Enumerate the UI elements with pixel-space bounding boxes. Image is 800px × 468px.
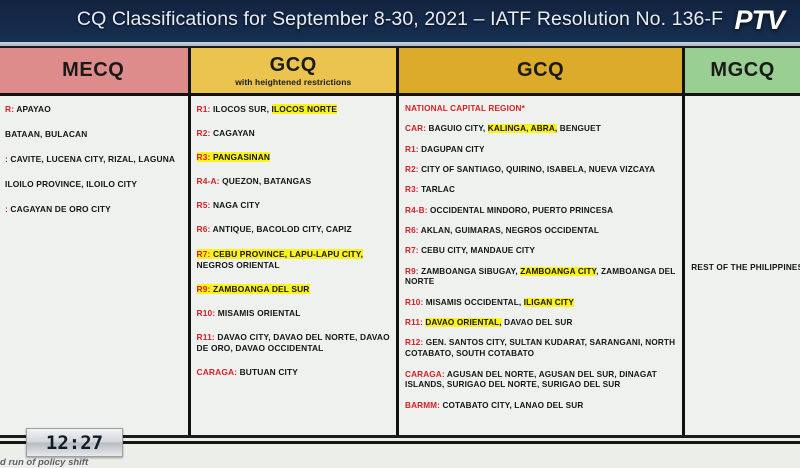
table-row: R10: MISAMIS OCCIDENTAL, ILIGAN CITY xyxy=(405,298,676,309)
table-row: : CAVITE, LUCENA CITY, RIZAL, LAGUNA xyxy=(5,154,182,165)
column-title-gcq: GCQ xyxy=(517,60,564,81)
table-row: R10: MISAMIS ORIENTAL xyxy=(197,308,390,319)
table-row: R4-A: QUEZON, BATANGAS xyxy=(197,176,390,187)
row-text-highlighted: DAVAO ORIENTAL, xyxy=(425,318,501,327)
row-region-label: CARAGA: xyxy=(405,370,447,379)
row-region-label: R1: xyxy=(405,145,421,154)
column-gcq-heightened: GCQ with heightened restrictions R1: ILO… xyxy=(191,48,399,435)
column-mecq: MECQ R: APAYAOBATAAN, BULACAN: CAVITE, L… xyxy=(0,48,191,435)
table-row: R11: DAVAO ORIENTAL, DAVAO DEL SUR xyxy=(405,318,676,329)
row-region-label: R2: xyxy=(405,165,421,174)
row-text: CAVITE, LUCENA CITY, RIZAL, LAGUNA xyxy=(10,154,175,164)
table-row: CARAGA: BUTUAN CITY xyxy=(197,367,390,378)
row-region-label: R10: xyxy=(405,298,426,307)
row-text: MISAMIS OCCIDENTAL, xyxy=(426,298,524,307)
row-region-label: R1: xyxy=(197,104,213,114)
row-region-label: R9: xyxy=(197,284,213,294)
table-row: R6: AKLAN, GUIMARAS, NEGROS OCCIDENTAL xyxy=(405,226,676,237)
row-text: DAVAO DEL SUR xyxy=(502,318,573,327)
table-row: R2: CITY OF SANTIAGO, QUIRINO, ISABELA, … xyxy=(405,165,676,176)
clock-time: 12:27 xyxy=(46,432,103,454)
row-text: COTABATO CITY, LANAO DEL SUR xyxy=(442,401,583,410)
table-row: R11: DAVAO CITY, DAVAO DEL NORTE, DAVAO … xyxy=(197,332,390,354)
row-region-label: BARMM: xyxy=(405,401,442,410)
row-text: BENGUET xyxy=(557,124,601,133)
column-body-gcq: NATIONAL CAPITAL REGION*CAR: BAGUIO CITY… xyxy=(399,96,682,435)
row-text-highlighted: PANGASINAN xyxy=(213,152,270,162)
table-row: R: APAYAO xyxy=(5,104,182,115)
row-text: ZAMBOANGA SIBUGAY, xyxy=(421,267,520,276)
row-text: DAGUPAN CITY xyxy=(421,145,485,154)
row-text: BATAAN, BULACAN xyxy=(5,129,87,139)
column-header-gcq-heightened: GCQ with heightened restrictions xyxy=(191,48,396,96)
column-gcq: GCQ NATIONAL CAPITAL REGION*CAR: BAGUIO … xyxy=(399,48,685,435)
table-row: R12: GEN. SANTOS CITY, SULTAN KUDARAT, S… xyxy=(405,338,676,360)
row-text: QUEZON, BATANGAS xyxy=(222,176,311,186)
column-body-mgcq: REST OF THE PHILIPPINES xyxy=(685,96,800,435)
row-region-label: R3: xyxy=(405,185,421,194)
table-row: CARAGA: AGUSAN DEL NORTE, AGUSAN DEL SUR… xyxy=(405,370,676,392)
row-text: MISAMIS ORIENTAL xyxy=(218,308,301,318)
row-text-highlighted: CEBU PROVINCE, LAPU-LAPU CITY, xyxy=(213,249,363,259)
table-row: R7: CEBU CITY, MANDAUE CITY xyxy=(405,246,676,257)
row-region-label: R10: xyxy=(197,308,218,318)
column-header-mecq: MECQ xyxy=(0,48,188,96)
row-text-highlighted: ZAMBOANGA DEL SUR xyxy=(213,284,310,294)
row-region-label: R11: xyxy=(197,332,218,342)
row-text: GEN. SANTOS CITY, SULTAN KUDARAT, SARANG… xyxy=(405,338,675,358)
row-region-label: R3: xyxy=(197,152,213,162)
table-row: R1: DAGUPAN CITY xyxy=(405,145,676,156)
table-row: NATIONAL CAPITAL REGION* xyxy=(405,104,676,115)
rest-of-philippines-label: REST OF THE PHILIPPINES xyxy=(691,263,800,272)
table-row: R7: CEBU PROVINCE, LAPU-LAPU CITY, NEGRO… xyxy=(197,249,390,271)
table-row: R1: ILOCOS SUR, ILOCOS NORTE xyxy=(197,104,390,115)
row-region-label: CAR: xyxy=(405,124,429,133)
table-row: R9: ZAMBOANGA DEL SUR xyxy=(197,284,390,295)
row-region-label: R: xyxy=(5,104,16,114)
column-title-gcq-heightened: GCQ xyxy=(270,55,317,76)
row-text: ILOILO PROVINCE, ILOILO CITY xyxy=(5,179,137,189)
column-header-gcq: GCQ xyxy=(399,48,682,96)
row-text: DAVAO CITY, DAVAO DEL NORTE, DAVAO DE OR… xyxy=(197,332,390,353)
row-text: CEBU CITY, MANDAUE CITY xyxy=(421,246,535,255)
column-body-mecq: R: APAYAOBATAAN, BULACAN: CAVITE, LUCENA… xyxy=(0,96,188,435)
row-text-highlighted: ILOCOS NORTE xyxy=(272,104,338,114)
row-text: ANTIQUE, BACOLOD CITY, CAPIZ xyxy=(213,224,352,234)
row-text: NAGA CITY xyxy=(213,200,260,210)
classification-table: MECQ R: APAYAOBATAAN, BULACAN: CAVITE, L… xyxy=(0,46,800,438)
column-body-gcq-heightened: R1: ILOCOS SUR, ILOCOS NORTER2: CAGAYANR… xyxy=(191,96,396,435)
ptv-network-logo: PTV xyxy=(734,5,784,36)
lower-ticker-band: 12:27 d run of policy shift xyxy=(0,441,800,467)
row-region-label: R5: xyxy=(197,200,213,210)
table-row: BATAAN, BULACAN xyxy=(5,129,182,140)
row-text: NEGROS ORIENTAL xyxy=(197,260,280,270)
column-title-mecq: MECQ xyxy=(62,60,124,81)
row-text-highlighted: KALINGA, ABRA, xyxy=(488,124,558,133)
row-text: OCCIDENTAL MINDORO, PUERTO PRINCESA xyxy=(430,206,613,215)
row-region-label: R6: xyxy=(405,226,421,235)
row-text: BUTUAN CITY xyxy=(240,367,298,377)
page-title: CQ Classifications for September 8-30, 2… xyxy=(0,8,800,31)
ticker-subtext: d run of policy shift xyxy=(0,457,88,468)
row-text: CAGAYAN xyxy=(213,128,255,138)
table-row: BARMM: COTABATO CITY, LANAO DEL SUR xyxy=(405,401,676,412)
row-text-highlighted: ILIGAN CITY xyxy=(524,298,574,307)
table-row: R2: CAGAYAN xyxy=(197,128,390,139)
row-region-label: R7: xyxy=(197,249,213,259)
row-region-label: R11: xyxy=(405,318,425,327)
column-subtitle-gcq-heightened: with heightened restrictions xyxy=(235,77,351,87)
table-row: : CAGAYAN DE ORO CITY xyxy=(5,204,182,215)
row-text: BAGUIO CITY, xyxy=(429,124,488,133)
table-row: R3: TARLAC xyxy=(405,185,676,196)
row-region-label: R4-B: xyxy=(405,206,430,215)
row-text: CITY OF SANTIAGO, QUIRINO, ISABELA, NUEV… xyxy=(421,165,655,174)
table-row: ILOILO PROVINCE, ILOILO CITY xyxy=(5,179,182,190)
row-text: APAYAO xyxy=(16,104,51,114)
row-region-label: CARAGA: xyxy=(197,367,240,377)
column-mgcq: MGCQ REST OF THE PHILIPPINES xyxy=(685,48,800,435)
row-text-highlighted: ZAMBOANGA CITY xyxy=(520,267,596,276)
row-text: TARLAC xyxy=(421,185,455,194)
broadcast-title-bar: CQ Classifications for September 8-30, 2… xyxy=(0,0,800,42)
column-header-mgcq: MGCQ xyxy=(685,48,800,96)
row-text: CAGAYAN DE ORO CITY xyxy=(10,204,110,214)
row-region-label: R4-A: xyxy=(197,176,223,186)
broadcast-clock: 12:27 xyxy=(26,428,123,457)
column-title-mgcq: MGCQ xyxy=(710,60,775,81)
table-row: R4-B: OCCIDENTAL MINDORO, PUERTO PRINCES… xyxy=(405,206,676,217)
row-region-label: R12: xyxy=(405,338,426,347)
row-region-label: NATIONAL CAPITAL REGION* xyxy=(405,104,525,113)
row-text: AKLAN, GUIMARAS, NEGROS OCCIDENTAL xyxy=(421,226,599,235)
row-region-label: R9: xyxy=(405,267,421,276)
table-row: R3: PANGASINAN xyxy=(197,152,390,163)
row-text: ILOCOS SUR, xyxy=(213,104,272,114)
row-region-label: R7: xyxy=(405,246,421,255)
row-region-label: R6: xyxy=(197,224,213,234)
table-row: R6: ANTIQUE, BACOLOD CITY, CAPIZ xyxy=(197,224,390,235)
row-region-label: R2: xyxy=(197,128,213,138)
table-row: R9: ZAMBOANGA SIBUGAY, ZAMBOANGA CITY, Z… xyxy=(405,267,676,289)
table-row: CAR: BAGUIO CITY, KALINGA, ABRA, BENGUET xyxy=(405,124,676,135)
table-row: R5: NAGA CITY xyxy=(197,200,390,211)
